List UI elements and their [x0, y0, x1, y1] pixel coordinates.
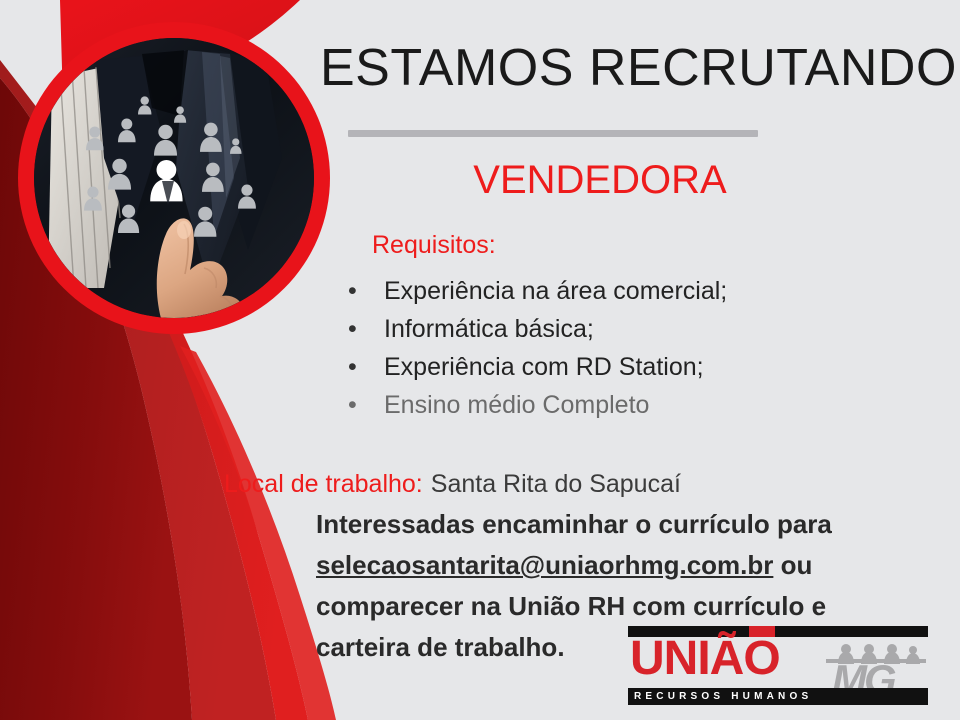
- location-label: Local de trabalho:: [224, 470, 423, 498]
- logo-subtitle: RECURSOS HUMANOS: [634, 689, 812, 704]
- uniao-rh-logo: UNIÃO: [628, 626, 928, 708]
- bullet-icon: •: [348, 348, 357, 386]
- apply-line-3: comparecer na União RH com currículo e: [316, 586, 916, 627]
- bullet-icon: •: [348, 272, 357, 310]
- list-item: • Informática básica;: [340, 310, 900, 348]
- list-item: • Experiência na área comercial;: [340, 272, 900, 310]
- work-location: Local de trabalho:Santa Rita do Sapucaí: [224, 468, 681, 500]
- requirement-text: Informática básica;: [384, 315, 594, 343]
- logo-wordmark: UNIÃO: [630, 632, 780, 686]
- recruitment-poster: ESTAMOS RECRUTANDO VENDEDORA Requisitos:…: [0, 0, 960, 720]
- apply-line-2: selecaosantarita@uniaorhmg.com.br ou: [316, 545, 916, 586]
- requirements-heading: Requisitos:: [372, 230, 496, 260]
- apply-line-1: Interessadas encaminhar o currículo para: [316, 504, 916, 545]
- location-value: Santa Rita do Sapucaí: [431, 470, 681, 498]
- list-item: • Ensino médio Completo: [340, 386, 900, 424]
- requirements-list: • Experiência na área comercial; • Infor…: [340, 272, 900, 424]
- application-email[interactable]: selecaosantarita@uniaorhmg.com.br: [316, 550, 773, 580]
- job-title: VENDEDORA: [360, 156, 840, 204]
- recruiter-photo: [34, 38, 314, 318]
- page-title: ESTAMOS RECRUTANDO: [320, 38, 920, 98]
- title-divider: [348, 130, 758, 137]
- bullet-icon: •: [348, 310, 357, 348]
- list-item: • Experiência com RD Station;: [340, 348, 900, 386]
- circular-photo-frame: [18, 22, 330, 334]
- requirement-text: Ensino médio Completo: [384, 391, 649, 419]
- photo-clip: [34, 38, 314, 318]
- bullet-icon: •: [348, 386, 357, 424]
- apply-line-2-suffix: ou: [773, 550, 812, 580]
- requirement-text: Experiência com RD Station;: [384, 353, 704, 381]
- requirement-text: Experiência na área comercial;: [384, 277, 727, 305]
